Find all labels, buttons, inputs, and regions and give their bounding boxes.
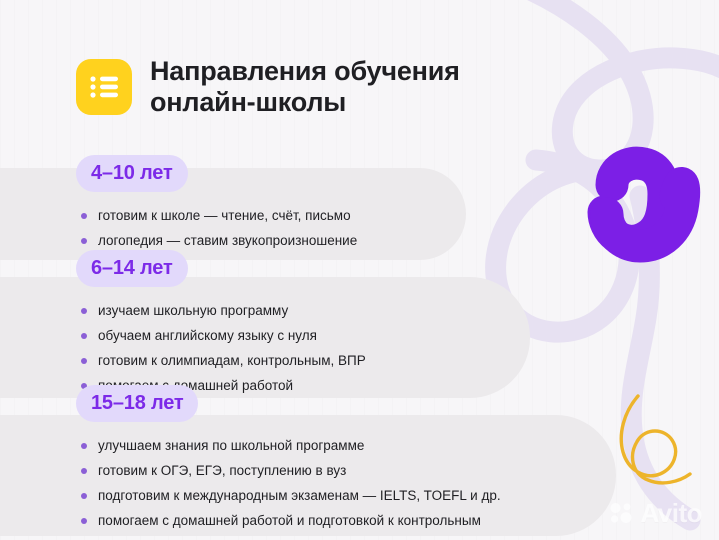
avito-watermark: Avito: [609, 500, 702, 526]
page-title: Направления обучения онлайн-школы: [150, 56, 460, 118]
benefit-list-3: улучшаем знания по школьной программе го…: [79, 433, 501, 533]
list-item: изучаем школьную программу: [79, 298, 366, 323]
bullet-list-icon: [76, 59, 132, 115]
avito-wordmark: Avito: [640, 500, 702, 526]
header: Направления обучения онлайн-школы: [76, 56, 460, 118]
poster-root: Направления обучения онлайн-школы 4–10 л…: [0, 0, 719, 540]
list-item: обучаем английскому языку с нуля: [79, 323, 366, 348]
age-badge-3: 15–18 лет: [76, 385, 198, 422]
section-6-14: 6–14 лет изучаем школьную программу обуч…: [76, 250, 366, 398]
age-badge-2: 6–14 лет: [76, 250, 188, 287]
benefit-list-2: изучаем школьную программу обучаем англи…: [79, 298, 366, 398]
avito-logo-icon: [609, 502, 635, 524]
list-item: подготовим к международным экзаменам — I…: [79, 483, 501, 508]
list-item: помогаем с домашней работой и подготовко…: [79, 508, 501, 533]
benefit-list-1: готовим к школе — чтение, счёт, письмо л…: [79, 203, 357, 253]
list-item: улучшаем знания по школьной программе: [79, 433, 501, 458]
section-15-18: 15–18 лет улучшаем знания по школьной пр…: [76, 385, 501, 533]
list-item: готовим к олимпиадам, контрольным, ВПР: [79, 348, 366, 373]
age-badge-1: 4–10 лет: [76, 155, 188, 192]
section-4-10: 4–10 лет готовим к школе — чтение, счёт,…: [76, 155, 357, 253]
list-item: готовим к ОГЭ, ЕГЭ, поступлению в вуз: [79, 458, 501, 483]
list-item: готовим к школе — чтение, счёт, письмо: [79, 203, 357, 228]
